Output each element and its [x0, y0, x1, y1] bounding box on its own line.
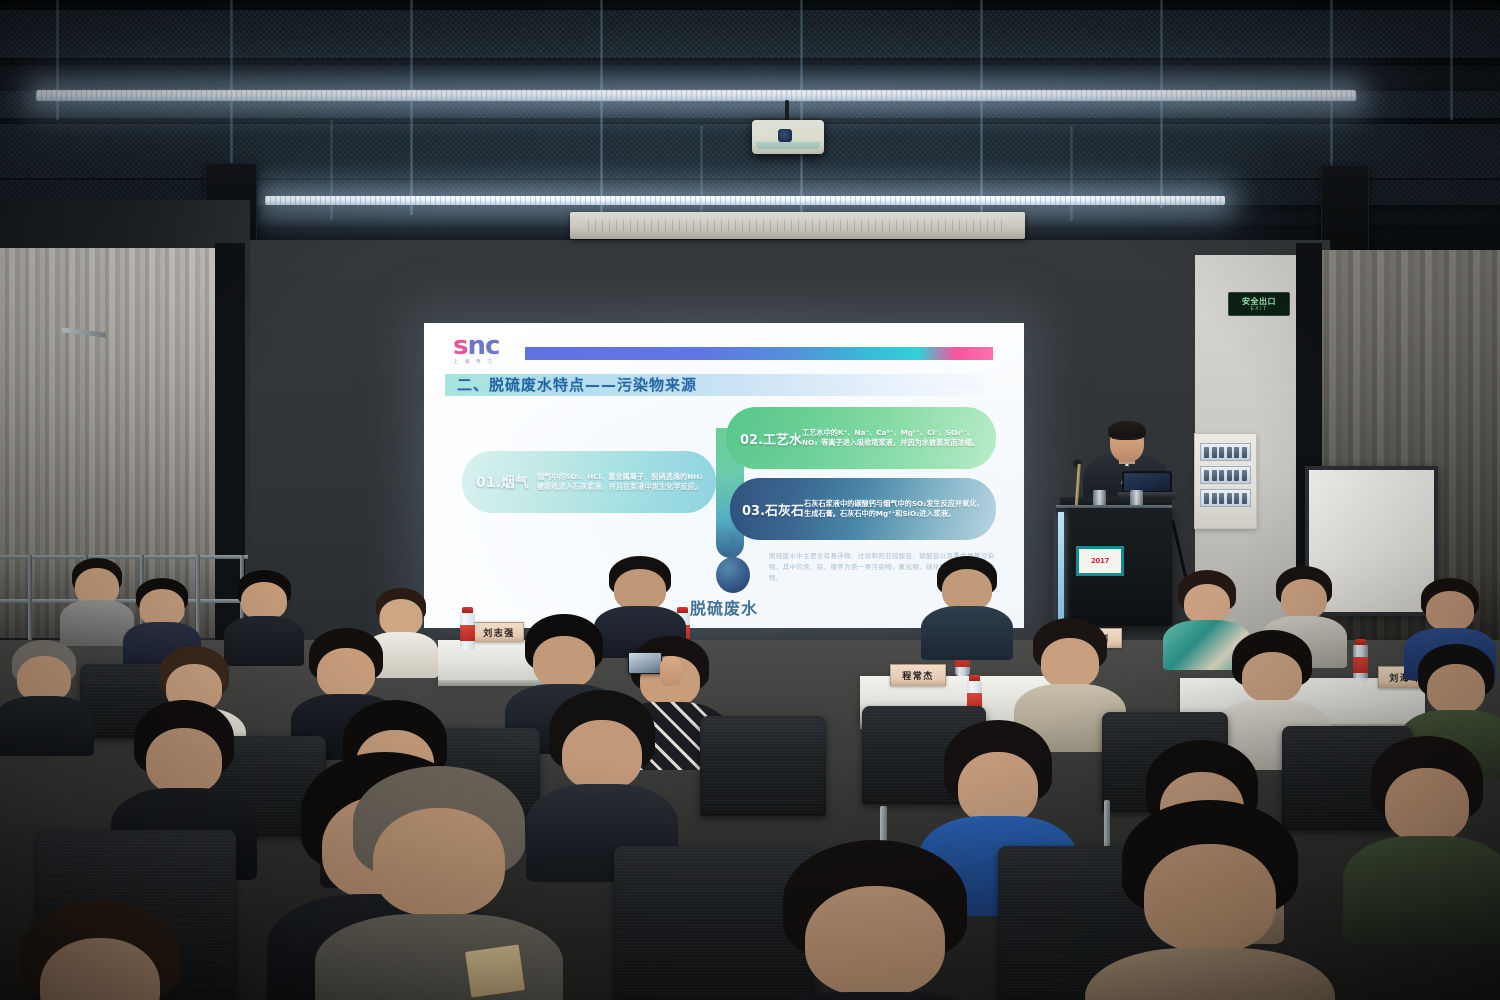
presenter-glasses	[1112, 438, 1142, 444]
projector-vent	[756, 142, 819, 149]
air-conditioning-unit	[570, 212, 1025, 239]
slide-item-02-body: 工艺水中的K⁺、Na⁺、Ca²⁺、Mg²⁺、Cl⁻、SO₄²⁻、NO₃⁻等离子进…	[802, 428, 984, 449]
water-drop-label: 脱硫废水	[690, 595, 758, 619]
ceiling-light-strip-front	[36, 90, 1356, 101]
nameplate-2: 程常杰	[890, 664, 946, 686]
audience-person	[926, 556, 1008, 656]
audience-person	[62, 558, 132, 644]
breaker-row	[1200, 489, 1251, 507]
spc-logo: snc 上 海 电 力	[453, 335, 515, 365]
audience-person	[1356, 736, 1498, 932]
breaker-row	[1200, 466, 1251, 484]
slide-header-gradient-bar	[525, 347, 993, 360]
slide-title: 二、脱硫废水特点——污染物来源	[457, 375, 697, 395]
exit-sign: 安全出口 EXIT	[1228, 292, 1290, 316]
logo-subtitle: 上 海 电 力	[453, 358, 515, 365]
hand-holding-phone	[660, 656, 682, 686]
presenter-laptop[interactable]	[1118, 471, 1177, 501]
logo-letter-s: s	[453, 331, 467, 361]
phone-screen	[629, 653, 661, 673]
slide-item-01-body: 烟气中的SO₂、HCl、重金属离子、脱硝逃逸的NH₃被吸收进入石灰浆液，并且在浆…	[537, 472, 704, 493]
audience-person	[0, 640, 88, 750]
water-drop-body	[716, 557, 750, 593]
ceiling-projector	[752, 120, 824, 154]
water-drop-graphic	[716, 533, 750, 593]
smartphone[interactable]	[628, 652, 662, 674]
slide-item-01-number: 01.烟气	[476, 472, 529, 492]
podium-event-sign: 2017	[1076, 546, 1124, 576]
slide-item-03-body: 石灰石浆液中的碳酸钙与烟气中的SO₂发生反应并氧化，生成石膏。石灰石中的Mg²⁺…	[804, 499, 986, 520]
chair[interactable]	[700, 716, 826, 816]
audience-person	[536, 690, 668, 870]
nameplate-1-text: 刘志强	[483, 626, 515, 639]
breaker-row	[1200, 443, 1251, 461]
podium-sign-year: 2017	[1091, 557, 1109, 565]
logo-letter-c: c	[485, 331, 499, 361]
electrical-breaker-panel	[1194, 433, 1257, 529]
logo-letter-n: n	[467, 331, 485, 361]
slide-item-03: 03.石灰石 石灰石浆液中的碳酸钙与烟气中的SO₂发生反应并氧化，生成石膏。石灰…	[730, 478, 996, 540]
podium-light-strip	[1058, 512, 1064, 622]
exit-sign-english: EXIT	[1250, 306, 1267, 312]
water-bottle	[1353, 644, 1368, 682]
notebook	[465, 944, 525, 997]
exit-sign-chinese: 安全出口	[1242, 297, 1276, 306]
nameplate-2-text: 程常杰	[902, 669, 934, 682]
audience-person-foreground	[1100, 800, 1320, 1000]
ceiling-light-strip-rear	[265, 196, 1225, 205]
slide-item-02: 02.工艺水 工艺水中的K⁺、Na⁺、Ca²⁺、Mg²⁺、Cl⁻、SO₄²⁻、N…	[726, 407, 996, 469]
slide-item-02-number: 02.工艺水	[740, 429, 802, 448]
projector-lens	[778, 129, 792, 142]
laptop-screen	[1122, 471, 1172, 493]
water-bottle	[460, 612, 475, 650]
audience-person-foreground	[760, 840, 990, 1000]
slide-item-03-number: 03.石灰石	[742, 500, 804, 519]
laptop-keyboard[interactable]	[1118, 492, 1177, 499]
audience-person-foreground	[0, 900, 200, 1000]
slide-item-01: 01.烟气 烟气中的SO₂、HCl、重金属离子、脱硝逃逸的NH₃被吸收进入石灰浆…	[462, 451, 716, 513]
conference-room-photo: 安全出口 EXIT snc 上 海 电 力 二、脱硫废水特点——污染物来源 01…	[0, 0, 1500, 1000]
